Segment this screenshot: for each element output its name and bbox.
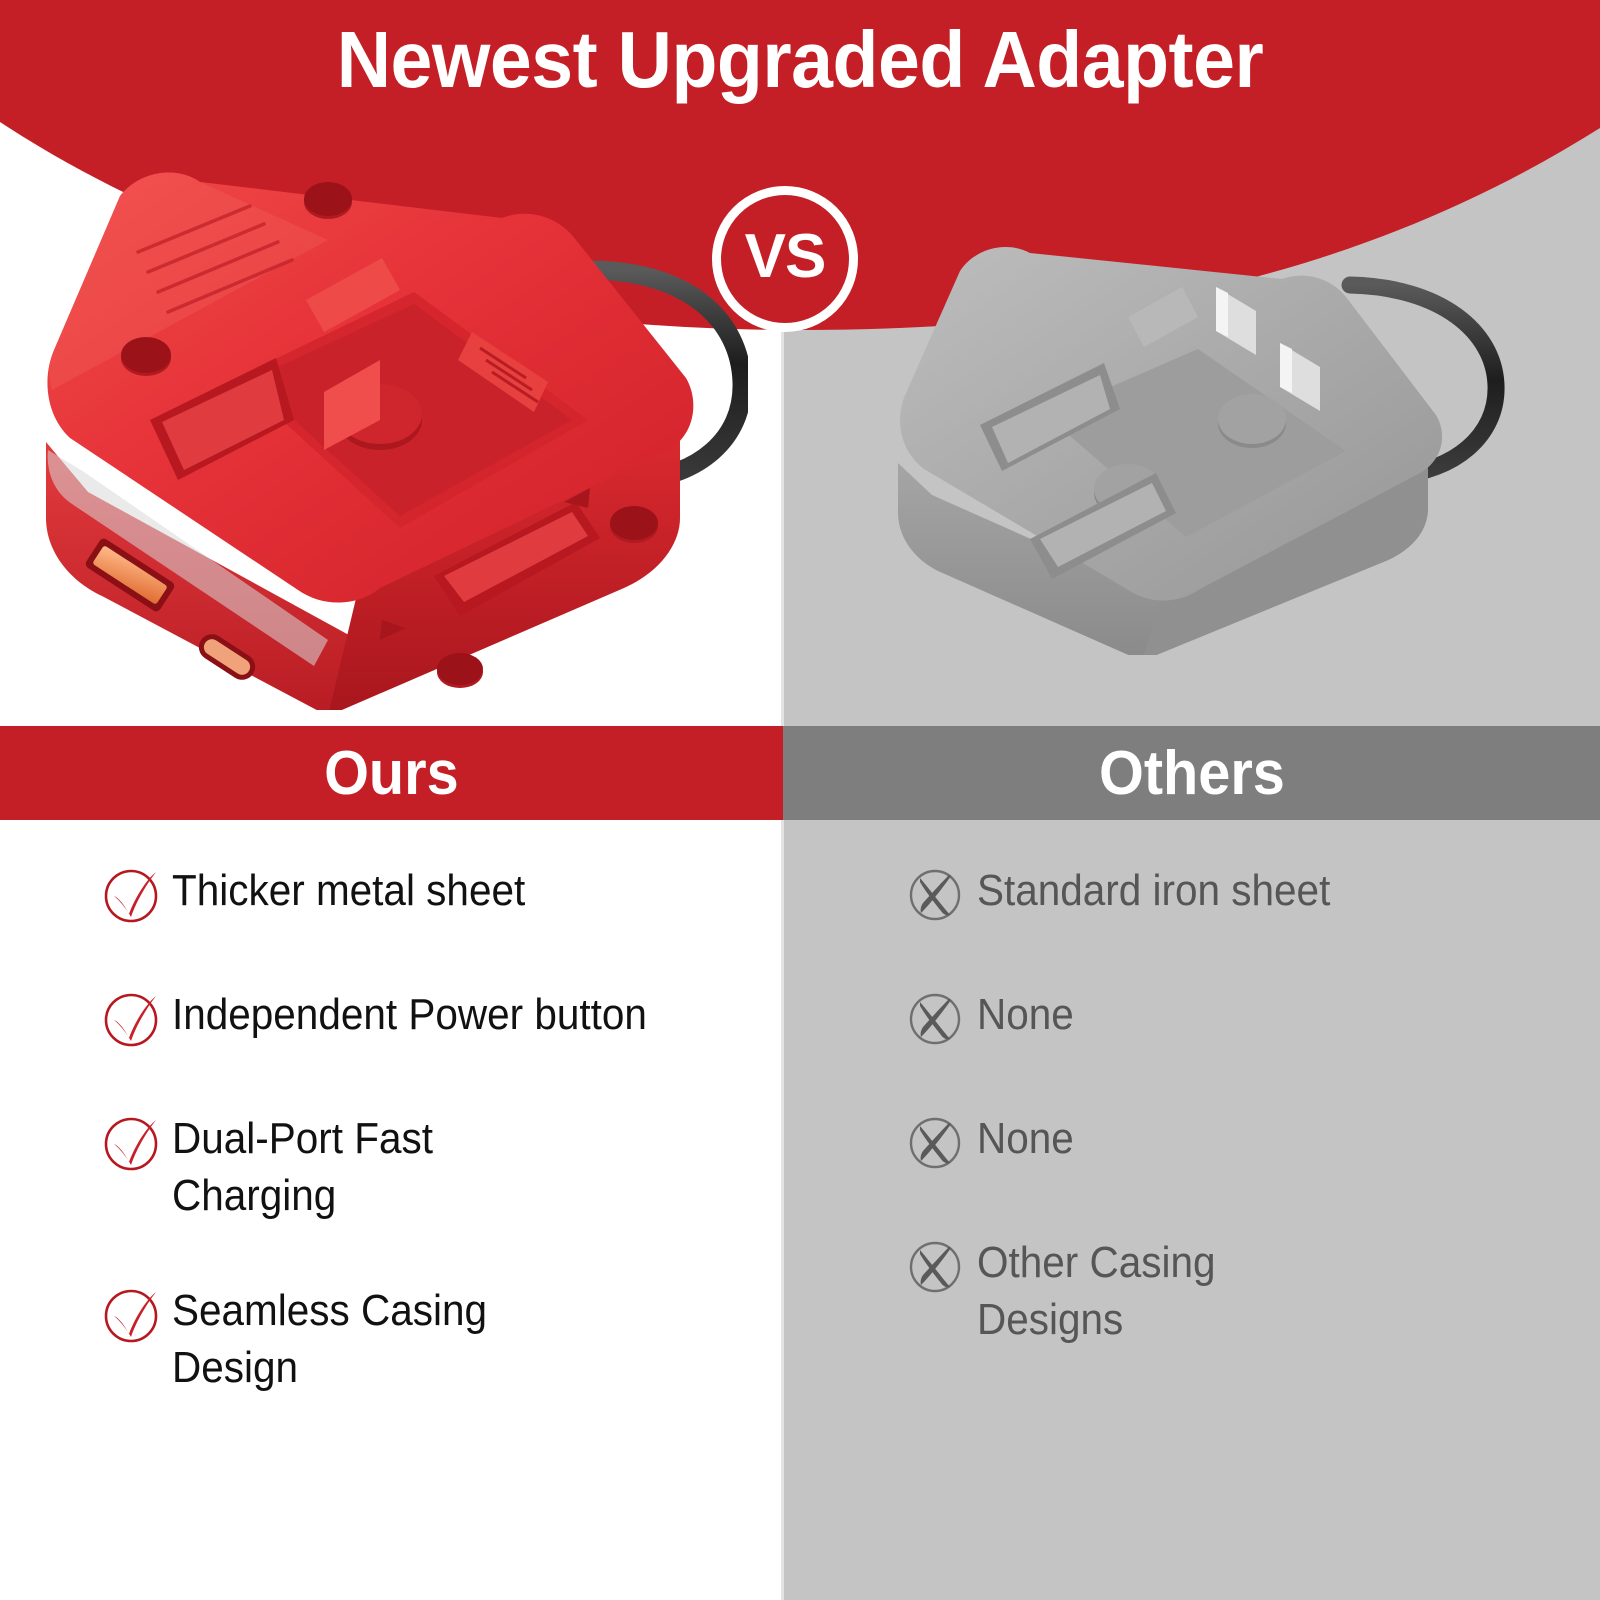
feature-label: Dual-Port Fast Charging [172, 1110, 433, 1224]
label-bar-others: Others [783, 726, 1600, 820]
vs-badge: VS [712, 186, 858, 332]
feature-row: None [905, 986, 1082, 1050]
feature-row: Dual-Port Fast Charging [100, 1110, 456, 1224]
feature-label: None [977, 1110, 1074, 1167]
x-circle-icon [905, 986, 977, 1050]
feature-row: None [905, 1110, 1082, 1174]
label-others: Others [1099, 738, 1285, 809]
page-title: Newest Upgraded Adapter [48, 14, 1552, 106]
vs-label: VS [745, 226, 826, 288]
feature-row: Standard iron sheet [905, 862, 1361, 926]
product-image-others [880, 225, 1520, 655]
label-bar-ours: Ours [0, 726, 783, 820]
check-circle-icon [100, 986, 172, 1050]
x-circle-icon [905, 1234, 977, 1298]
x-circle-icon [905, 862, 977, 926]
feature-label: Seamless Casing Design [172, 1282, 487, 1396]
check-circle-icon [100, 1110, 172, 1174]
feature-label: Thicker metal sheet [172, 862, 525, 919]
x-circle-icon [905, 1110, 977, 1174]
feature-row: Seamless Casing Design [100, 1282, 514, 1396]
product-image-ours [28, 120, 748, 710]
comparison-infographic: Newest Upgraded Adapter [0, 0, 1600, 1600]
label-ours: Ours [324, 738, 459, 809]
feature-label: Independent Power button [172, 986, 647, 1043]
feature-label: None [977, 986, 1074, 1043]
feature-label: Standard iron sheet [977, 862, 1330, 919]
check-circle-icon [100, 1282, 172, 1346]
feature-row: Other Casing Designs [905, 1234, 1236, 1348]
feature-label: Other Casing Designs [977, 1234, 1215, 1348]
check-circle-icon [100, 862, 172, 926]
feature-row: Thicker metal sheet [100, 862, 556, 926]
feature-row: Independent Power button [100, 986, 688, 1050]
